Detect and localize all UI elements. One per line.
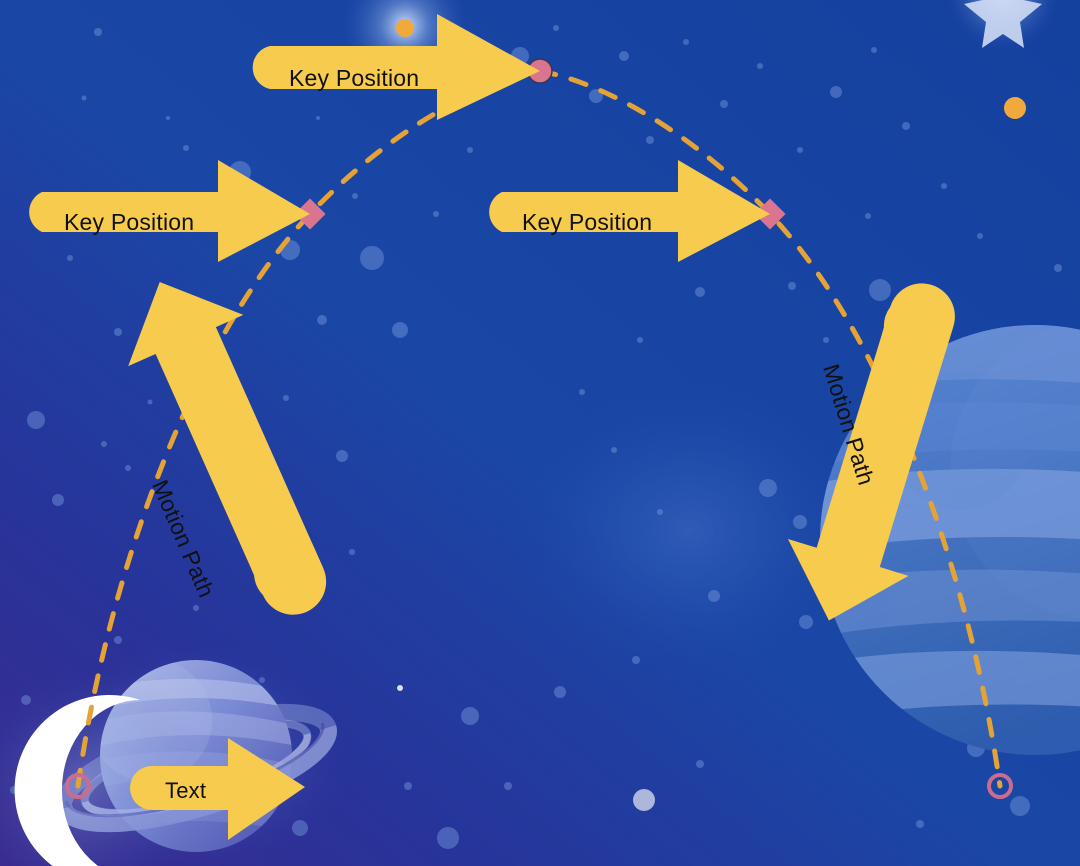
space-motion-path-diagram: Key Position Key Position Key Position M… [0, 0, 1080, 866]
motion-path-right-arrow[interactable] [769, 298, 982, 639]
callout-arrows-layer [0, 0, 1080, 866]
key-position-top-arrow[interactable] [253, 14, 540, 120]
key-position-right-arrow[interactable] [489, 160, 770, 262]
text-callout-arrow[interactable] [130, 738, 305, 840]
key-position-left-arrow[interactable] [29, 160, 310, 262]
